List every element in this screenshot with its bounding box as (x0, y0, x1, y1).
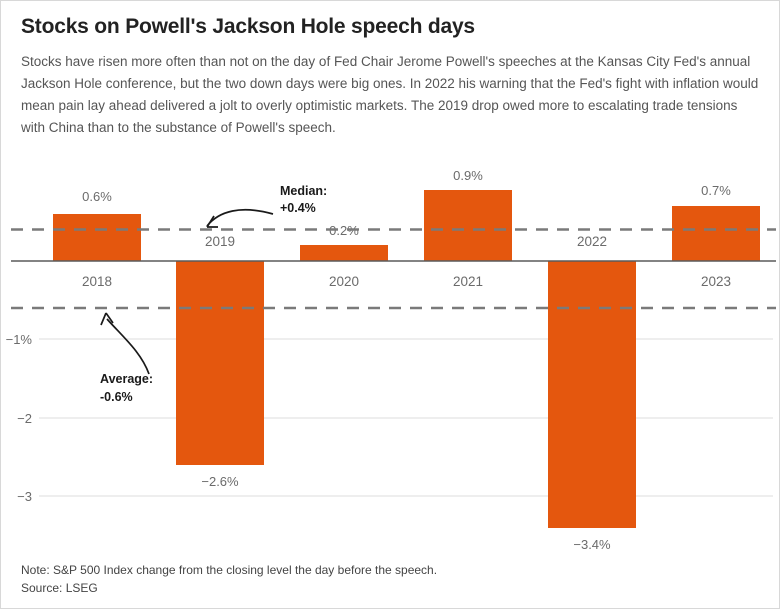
chart-page: Stocks on Powell's Jackson Hole speech d… (0, 0, 780, 609)
chart-footer: Note: S&P 500 Index change from the clos… (21, 561, 761, 598)
category-label-2018: 2018 (82, 274, 112, 289)
bar-chart-svg: −1% −2 −3 0.6% 2018 −2.6% 2019 0.2% (1, 169, 780, 554)
median-annotation-arrow-curve (207, 210, 273, 226)
average-annotation-line2: -0.6% (100, 390, 133, 404)
bar-value-label-2021: 0.9% (453, 169, 483, 183)
ytick-label-0: −1% (6, 332, 33, 347)
bar-group-2023[interactable]: 0.7% 2023 (672, 183, 760, 289)
footer-source: Source: LSEG (21, 579, 761, 598)
bar-2019[interactable] (176, 261, 264, 465)
bar-2022[interactable] (548, 261, 636, 528)
median-annotation-line2: +0.4% (280, 201, 316, 215)
category-label-2022: 2022 (577, 234, 607, 249)
category-label-2021: 2021 (453, 274, 483, 289)
average-annotation: Average: -0.6% (100, 313, 153, 404)
median-annotation-line1: Median: (280, 184, 327, 198)
bar-value-label-2018: 0.6% (82, 189, 112, 204)
bar-2021[interactable] (424, 190, 512, 261)
median-annotation: Median: +0.4% (207, 184, 327, 227)
ytick-label-2: −3 (17, 489, 32, 504)
ytick-label-1: −2 (17, 411, 32, 426)
bar-value-label-2023: 0.7% (701, 183, 731, 198)
page-title: Stocks on Powell's Jackson Hole speech d… (21, 15, 761, 39)
footer-note: Note: S&P 500 Index change from the clos… (21, 561, 761, 580)
y-axis-tick-labels: −1% −2 −3 (6, 332, 33, 504)
bar-group-2018[interactable]: 0.6% 2018 (53, 189, 141, 289)
bar-2018[interactable] (53, 214, 141, 261)
bar-2023[interactable] (672, 206, 760, 261)
category-label-2020: 2020 (329, 274, 359, 289)
category-label-2019: 2019 (205, 234, 235, 249)
bar-value-label-2019: −2.6% (201, 474, 239, 489)
bar-group-2020[interactable]: 0.2% 2020 (300, 223, 388, 289)
bar-group-2019[interactable]: −2.6% 2019 (176, 234, 264, 489)
average-annotation-arrow-curve (107, 319, 149, 374)
category-label-2023: 2023 (701, 274, 731, 289)
bar-group-2022[interactable]: −3.4% 2022 (548, 234, 636, 552)
bar-2020[interactable] (300, 245, 388, 261)
bar-value-label-2022: −3.4% (573, 537, 611, 552)
average-annotation-line1: Average: (100, 372, 153, 386)
gridlines (39, 339, 773, 496)
chart-subtitle: Stocks have risen more often than not on… (21, 51, 761, 138)
chart-plot-area: −1% −2 −3 0.6% 2018 −2.6% 2019 0.2% (1, 169, 780, 554)
chart-header: Stocks on Powell's Jackson Hole speech d… (1, 1, 780, 139)
